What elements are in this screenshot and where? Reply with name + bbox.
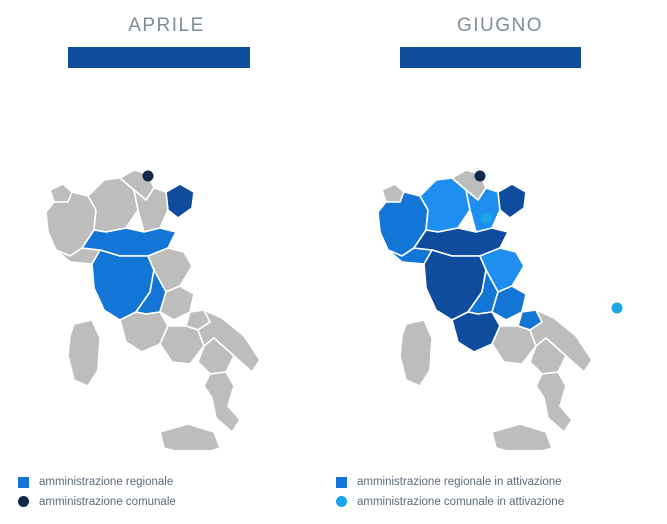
city-marker-centro bbox=[481, 213, 492, 224]
region-friuli-venezia-giulia bbox=[166, 184, 194, 218]
region-campania bbox=[160, 326, 204, 364]
legend-label-comunale: amministrazione comunale bbox=[39, 495, 176, 509]
map-italy-giugno bbox=[340, 80, 660, 450]
legend-item-regionale: amministrazione regionale bbox=[18, 475, 318, 489]
legend-label-comunale-attivazione: amministrazione comunale in attivazione bbox=[357, 495, 564, 509]
legend-item-comunale: amministrazione comunale bbox=[18, 495, 318, 509]
region-veneto bbox=[134, 188, 168, 232]
legend-giugno: amministrazione regionale in attivazione… bbox=[336, 475, 666, 514]
circle-marker-icon bbox=[18, 496, 29, 507]
legend-item-comunale-attivazione: amministrazione comunale in attivazione bbox=[336, 495, 666, 509]
region-sicilia bbox=[160, 424, 220, 450]
region-calabria bbox=[204, 372, 240, 432]
region-veneto bbox=[466, 188, 500, 232]
map-italy-aprile bbox=[8, 80, 328, 450]
legend-aprile: amministrazione regionale amministrazion… bbox=[18, 475, 318, 514]
region-friuli-venezia-giulia bbox=[498, 184, 526, 218]
city-marker-venezia bbox=[475, 171, 486, 182]
city-marker-venezia bbox=[143, 171, 154, 182]
city-marker-puglia bbox=[612, 303, 623, 314]
legend-label-regionale: amministrazione regionale bbox=[39, 475, 173, 489]
panel-title-aprile: APRILE bbox=[0, 15, 333, 37]
region-sicilia bbox=[492, 424, 552, 450]
panel-aprile: APRILE bbox=[0, 0, 333, 524]
region-calabria bbox=[536, 372, 572, 432]
region-campania bbox=[492, 326, 536, 364]
panel-title-bar-aprile bbox=[68, 47, 250, 68]
square-marker-icon bbox=[336, 477, 347, 488]
panel-title-giugno: GIUGNO bbox=[333, 15, 667, 37]
legend-label-regionale-attivazione: amministrazione regionale in attivazione bbox=[357, 475, 562, 489]
circle-marker-icon bbox=[336, 496, 347, 507]
region-sardegna bbox=[400, 320, 432, 386]
panel-title-bar-giugno bbox=[400, 47, 581, 68]
square-marker-icon bbox=[18, 477, 29, 488]
region-sardegna bbox=[68, 320, 100, 386]
legend-item-regionale-attivazione: amministrazione regionale in attivazione bbox=[336, 475, 666, 489]
